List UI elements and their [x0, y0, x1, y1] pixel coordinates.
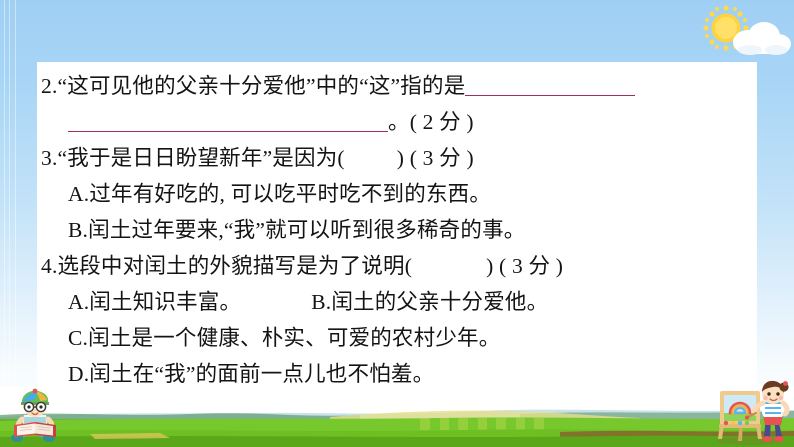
question-2-line-2: 。( 2 分 ) [41, 104, 757, 140]
answer-blank-line[interactable] [68, 112, 388, 132]
question-3-stem-head: 3.“我于是日日盼望新年”是因为( [41, 146, 345, 170]
sun-cloud-icon [690, 2, 794, 62]
question-2-stem: 2.“这可见他的父亲十分爱他”中的“这”指的是 [41, 74, 465, 98]
question-4-option-a[interactable]: A.闰土知识丰富。 [68, 290, 241, 314]
question-2-score: 。( 2 分 ) [388, 110, 474, 134]
girl-painting-easel-illustration [708, 379, 790, 445]
question-2-line-1: 2.“这可见他的父亲十分爱他”中的“这”指的是 [41, 68, 757, 104]
child-reading-book-illustration [4, 387, 66, 445]
edge-hairline [15, 0, 16, 447]
question-list: 2.“这可见他的父亲十分爱他”中的“这”指的是 。( 2 分 ) 3.“我于是日… [37, 62, 757, 392]
question-4-option-c[interactable]: C.闰土是一个健康、朴实、可爱的农村少年。 [41, 320, 757, 356]
question-3-stem: 3.“我于是日日盼望新年”是因为() ( 3 分 ) [41, 140, 757, 176]
question-3-option-b[interactable]: B.闰土过年要来,“我”就可以听到很多稀奇的事。 [41, 212, 757, 248]
question-4-option-b[interactable]: B.闰土的父亲十分爱他。 [311, 290, 548, 314]
question-3-stem-tail: ) ( 3 分 ) [397, 146, 474, 170]
question-3-option-a[interactable]: A.过年有好吃的, 可以吃平时吃不到的东西。 [41, 176, 757, 212]
question-4-option-d[interactable]: D.闰土在“我”的面前一点儿也不怕羞。 [41, 356, 757, 392]
edge-hairline [9, 0, 10, 447]
question-4-options-row-ab: A.闰土知识丰富。B.闰土的父亲十分爱他。 [41, 284, 757, 320]
slide-canvas: 2.“这可见他的父亲十分爱他”中的“这”指的是 。( 2 分 ) 3.“我于是日… [0, 0, 794, 447]
question-4-stem-head: 4.选段中对闰土的外貌描写是为了说明( [41, 254, 412, 278]
answer-blank-line[interactable] [465, 76, 635, 96]
question-4-stem-tail: ) ( 3 分 ) [486, 254, 563, 278]
question-4-stem: 4.选段中对闰土的外貌描写是为了说明() ( 3 分 ) [41, 248, 757, 284]
edge-hairline [4, 0, 5, 447]
